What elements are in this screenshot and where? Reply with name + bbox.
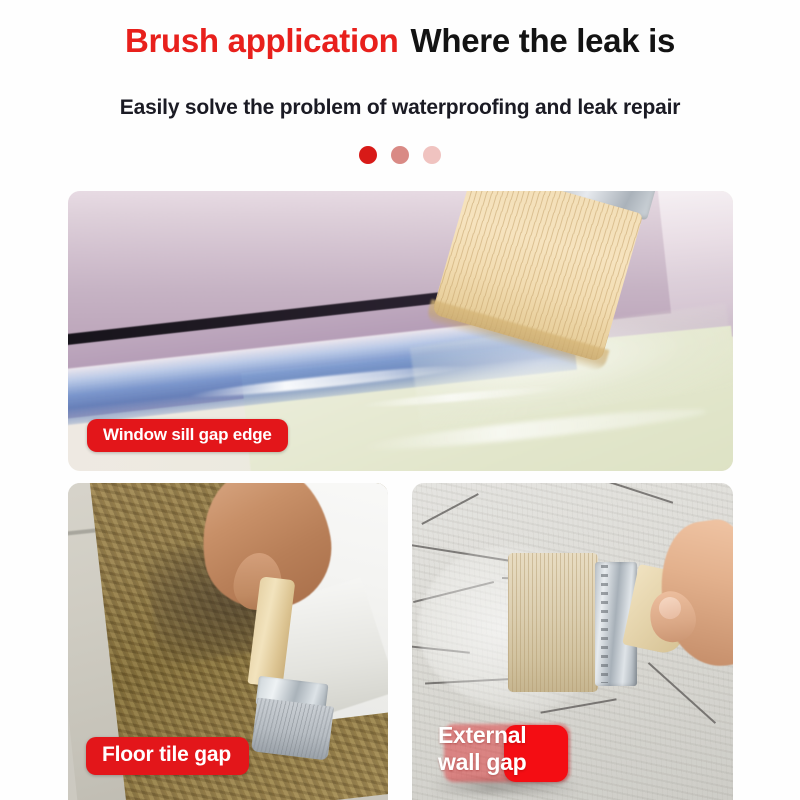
carousel-dot-active[interactable] [359,146,377,164]
caption-badge-window-sill-label: Window sill gap edge [103,425,272,445]
brush-bristles-floor [251,697,334,760]
brush-bristles-wall [508,553,598,692]
photo-window-sill: Window sill gap edge [68,191,733,471]
caption-badge-floor-tile: Floor tile gap [86,737,249,775]
product-banner: Brush applicationWhere the leak is Easil… [0,0,800,800]
header: Brush applicationWhere the leak is Easil… [0,0,800,180]
carousel-dot-second[interactable] [391,146,409,164]
carousel-dots[interactable] [0,146,800,164]
caption-badge-external-wall-line1: External [438,722,526,749]
page-subtitle: Easily solve the problem of waterproofin… [0,96,800,120]
photo-floor-tile: Floor tile gap [68,483,388,800]
photo-external-wall: External wall gap [412,483,733,800]
brush-ferrule-rivets [601,565,607,682]
page-title-rest: Where the leak is [411,22,676,59]
page-title: Brush applicationWhere the leak is [0,22,800,60]
caption-badge-external-wall-line2: wall gap [438,749,526,776]
caption-badge-external-wall-text: External wall gap [438,722,526,776]
carousel-dot-third[interactable] [423,146,441,164]
page-title-highlight: Brush application [125,22,399,59]
caption-badge-floor-tile-label: Floor tile gap [102,743,231,767]
caption-badge-window-sill: Window sill gap edge [87,419,288,452]
caption-badge-external-wall: External wall gap [430,720,600,786]
